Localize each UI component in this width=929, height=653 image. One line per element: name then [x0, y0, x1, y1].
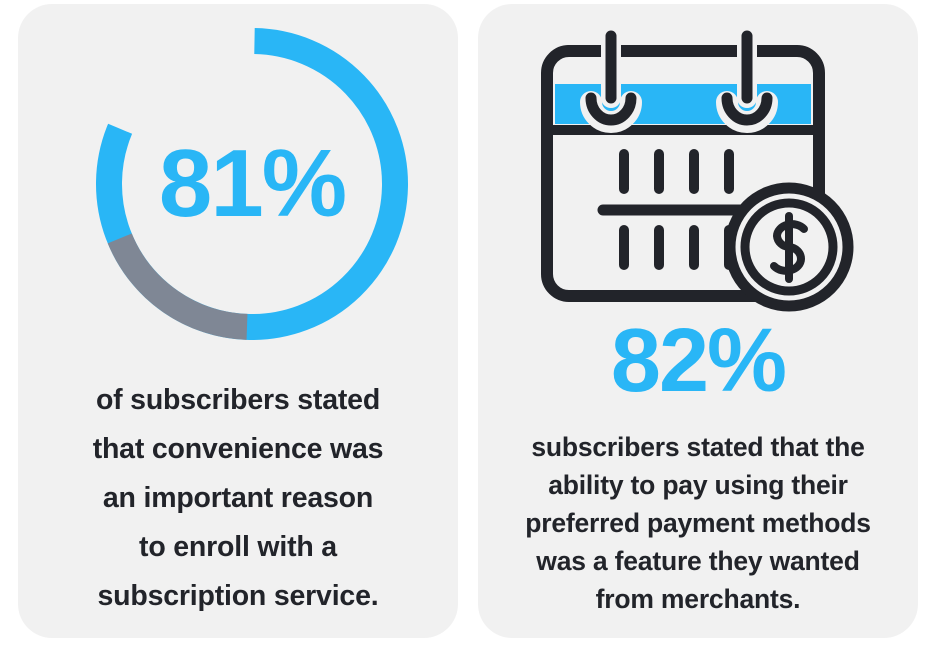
- body-line: preferred payment methods: [500, 504, 896, 542]
- body-line: to enroll with a: [40, 523, 436, 572]
- stat-card-convenience: 81% of subscribers stated that convenien…: [18, 4, 458, 638]
- body-line: subscription service.: [40, 572, 436, 621]
- card-body-text-right: subscribers stated that the ability to p…: [500, 428, 896, 618]
- stat-card-payment-methods: 82% subscribers stated that the ability …: [478, 4, 918, 638]
- donut-percent-label: 81%: [94, 26, 410, 342]
- body-line: was a feature they wanted: [500, 542, 896, 580]
- body-line: ability to pay using their: [500, 466, 896, 504]
- infographic-root: 81% of subscribers stated that convenien…: [0, 0, 929, 653]
- body-line: from merchants.: [500, 580, 896, 618]
- body-line: subscribers stated that the: [500, 428, 896, 466]
- body-line: of subscribers stated: [40, 376, 436, 425]
- card-body-text-left: of subscribers stated that convenience w…: [40, 376, 436, 621]
- calendar-illustration: [533, 24, 873, 324]
- body-line: that convenience was: [40, 425, 436, 474]
- donut-chart: 81%: [94, 26, 410, 342]
- calendar-icon: [533, 24, 873, 324]
- percent-label-right: 82%: [478, 316, 918, 406]
- body-line: an important reason: [40, 474, 436, 523]
